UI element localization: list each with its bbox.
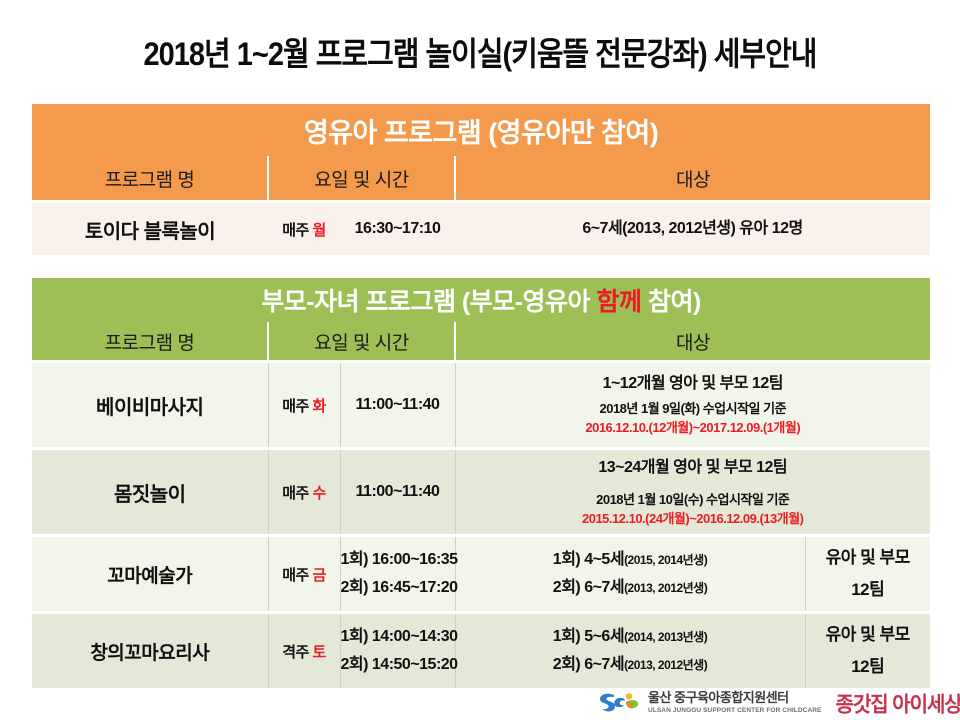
target-session-2-year: (2013, 2012년생) (624, 658, 707, 672)
program-day: 격주 토 (268, 614, 340, 688)
capacity-line-2: 12팀 (806, 651, 931, 683)
brand-name: 종갓집 아이세상 (835, 687, 960, 717)
time-session-1: 1회) 16:00~16:35 (341, 546, 455, 574)
program-target: 1회) 5~6세(2014, 2013년생) 2회) 6~7세(2013, 20… (455, 614, 805, 688)
infant-column-header-row: 프로그램 명 요일 및 시간 대상 (32, 156, 930, 200)
program-day: 매주 수 (268, 450, 340, 534)
capacity-line-2: 12팀 (806, 574, 931, 606)
banner-text-highlight: 함께 (597, 288, 642, 316)
program-name: 몸짓놀이 (32, 450, 268, 534)
time-session-1: 1회) 14:00~14:30 (341, 623, 455, 651)
program-time: 1회) 14:00~14:30 2회) 14:50~15:20 (340, 614, 455, 688)
program-target: 6~7세(2013, 2012년생) 유아 12명 (455, 203, 930, 255)
target-birth-range: 2016.12.10.(12개월)~2017.12.09.(1개월) (456, 419, 931, 438)
target-session-2: 2회) 6~7세(2013, 2012년생) (456, 651, 805, 679)
capacity-line-1: 유아 및 부모 (806, 619, 931, 651)
page-title: 2018년 1~2월 프로그램 놀이실(키움뜰 전문강좌) 세부안내 (0, 28, 960, 75)
target-session-2: 2회) 6~7세(2013, 2012년생) (456, 574, 805, 602)
day-of-week: 화 (312, 398, 325, 415)
infant-col-target: 대상 (455, 156, 930, 200)
program-time: 11:00~11:40 (340, 363, 455, 447)
day-of-week: 수 (312, 485, 325, 502)
poster-page: 2018년 1~2월 프로그램 놀이실(키움뜰 전문강좌) 세부안내 영유아 프… (0, 0, 960, 720)
day-of-week: 토 (312, 644, 325, 661)
program-time: 1회) 16:00~16:35 2회) 16:45~17:20 (340, 537, 455, 611)
target-session-2-age: 2회) 6~7세 (553, 579, 624, 596)
banner-text-post: 참여) (642, 288, 701, 316)
pc-col-program: 프로그램 명 (32, 322, 268, 360)
parent-child-column-header-row: 프로그램 명 요일 및 시간 대상 (32, 322, 930, 360)
banner-text-pre: 부모-자녀 프로그램 (부모-영유아 (261, 288, 596, 316)
table-row: 베이비마사지 매주 화 11:00~11:40 1~12개월 영아 및 부모 1… (32, 363, 930, 447)
time-session-2: 2회) 14:50~15:20 (341, 651, 455, 679)
target-session-1-age: 1회) 4~5세 (553, 551, 624, 568)
footer-logos: 울산 중구육아종합지원센터 ULSAN JUNGGU SUPPORT CENTE… (596, 688, 960, 717)
target-session-1-year: (2015, 2014년생) (624, 553, 707, 567)
program-name: 베이비마사지 (32, 363, 268, 447)
target-main: 13~24개월 영아 및 부모 12팀 (456, 456, 931, 479)
infant-col-program: 프로그램 명 (32, 156, 268, 200)
day-prefix: 매주 (282, 398, 309, 415)
capacity-line-1: 유아 및 부모 (806, 542, 931, 574)
day-of-week: 금 (312, 567, 325, 584)
program-day: 매주 화 (268, 363, 340, 447)
center-name-block: 울산 중구육아종합지원센터 ULSAN JUNGGU SUPPORT CENTE… (648, 691, 821, 713)
program-capacity: 유아 및 부모 12팀 (805, 614, 930, 688)
target-session-1: 1회) 5~6세(2014, 2013년생) (456, 623, 805, 651)
table-row: 몸짓놀이 매주 수 11:00~11:40 13~24개월 영아 및 부모 12… (32, 450, 930, 534)
infant-program-table: 영유아 프로그램 (영유아만 참여) 프로그램 명 요일 및 시간 대상 토이다… (32, 104, 930, 255)
program-name: 꼬마예술가 (32, 537, 268, 611)
target-main: 1~12개월 영아 및 부모 12팀 (456, 372, 931, 395)
target-session-2-age: 2회) 6~7세 (553, 656, 624, 673)
day-prefix: 매주 (282, 222, 309, 239)
target-session-1-age: 1회) 5~6세 (553, 628, 624, 645)
program-time: 16:30~17:10 (340, 203, 455, 255)
pc-col-schedule: 요일 및 시간 (268, 322, 455, 360)
center-name-korean: 울산 중구육아종합지원센터 (648, 691, 821, 705)
time-session-2: 2회) 16:45~17:20 (341, 574, 455, 602)
parent-child-banner-row: 부모-자녀 프로그램 (부모-영유아 함께 참여) (32, 278, 930, 322)
program-time: 11:00~11:40 (340, 450, 455, 534)
program-target: 1~12개월 영아 및 부모 12팀 2018년 1월 9일(화) 수업시작일 … (455, 363, 930, 447)
table-row: 창의꼬마요리사 격주 토 1회) 14:00~14:30 2회) 14:50~1… (32, 614, 930, 688)
program-day: 매주 월 (268, 203, 340, 255)
parent-child-program-table: 부모-자녀 프로그램 (부모-영유아 함께 참여) 프로그램 명 요일 및 시간… (32, 278, 930, 688)
infant-banner-row: 영유아 프로그램 (영유아만 참여) (32, 104, 930, 156)
day-prefix: 격주 (282, 644, 309, 661)
program-name: 토이다 블록놀이 (32, 203, 268, 255)
table-row: 꼬마예술가 매주 금 1회) 16:00~16:35 2회) 16:45~17:… (32, 537, 930, 611)
target-session-1: 1회) 4~5세(2015, 2014년생) (456, 546, 805, 574)
program-day: 매주 금 (268, 537, 340, 611)
program-target: 13~24개월 영아 및 부모 12팀 2018년 1월 10일(수) 수업시작… (455, 450, 930, 534)
infant-col-schedule: 요일 및 시간 (268, 156, 455, 200)
pc-col-target: 대상 (455, 322, 930, 360)
parent-child-banner: 부모-자녀 프로그램 (부모-영유아 함께 참여) (32, 278, 930, 322)
day-prefix: 매주 (282, 567, 309, 584)
target-session-2-year: (2013, 2012년생) (624, 581, 707, 595)
program-name: 창의꼬마요리사 (32, 614, 268, 688)
childcare-center-logo-icon (596, 690, 640, 716)
table-row: 토이다 블록놀이 매주 월 16:30~17:10 6~7세(2013, 201… (32, 203, 930, 255)
infant-banner: 영유아 프로그램 (영유아만 참여) (32, 104, 930, 156)
program-target: 1회) 4~5세(2015, 2014년생) 2회) 6~7세(2013, 20… (455, 537, 805, 611)
target-birth-range: 2015.12.10.(24개월)~2016.12.09.(13개월) (456, 510, 931, 529)
target-note: 2018년 1월 9일(화) 수업시작일 기준 (456, 400, 931, 419)
day-prefix: 매주 (282, 485, 309, 502)
center-name-english: ULSAN JUNGGU SUPPORT CENTER FOR CHILDCAR… (648, 707, 821, 714)
program-capacity: 유아 및 부모 12팀 (805, 537, 930, 611)
day-of-week: 월 (312, 222, 325, 239)
target-session-1-year: (2014, 2013년생) (624, 630, 707, 644)
target-note: 2018년 1월 10일(수) 수업시작일 기준 (456, 491, 931, 510)
